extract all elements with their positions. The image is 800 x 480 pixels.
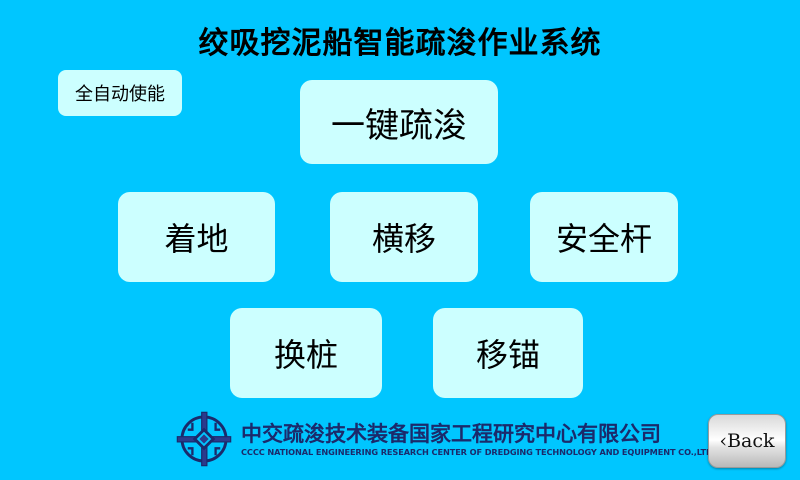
back-button[interactable]: ‹Back	[708, 414, 786, 468]
company-name-en: CCCC NATIONAL ENGINEERING RESEARCH CENTE…	[241, 448, 716, 458]
company-text-block: 中交疏浚技术装备国家工程研究中心有限公司 CCCC NATIONAL ENGIN…	[241, 420, 716, 458]
back-button-label: ‹Back	[719, 430, 774, 452]
page-title: 绞吸挖泥船智能疏浚作业系统	[0, 18, 800, 62]
landing-label: 着地	[164, 214, 228, 260]
safety-bar-button[interactable]: 安全杆	[530, 192, 678, 282]
company-footer: 中交疏浚技术装备国家工程研究中心有限公司 CCCC NATIONAL ENGIN…	[175, 408, 655, 470]
full-auto-enable-label: 全自动使能	[75, 80, 165, 106]
company-name-cn: 中交疏浚技术装备国家工程研究中心有限公司	[241, 422, 716, 446]
traverse-button[interactable]: 横移	[330, 192, 478, 282]
change-spud-label: 换桩	[274, 330, 338, 376]
cccc-logo-icon	[175, 410, 233, 468]
one-key-dredging-label: 一键疏浚	[331, 98, 467, 147]
move-anchor-label: 移锚	[476, 330, 540, 376]
one-key-dredging-button[interactable]: 一键疏浚	[300, 80, 498, 164]
change-spud-button[interactable]: 换桩	[230, 308, 382, 398]
traverse-label: 横移	[372, 214, 436, 260]
application-screen: 绞吸挖泥船智能疏浚作业系统 全自动使能 一键疏浚 着地 横移 安全杆 换桩 移锚	[0, 0, 800, 480]
landing-button[interactable]: 着地	[118, 192, 275, 282]
safety-bar-label: 安全杆	[556, 214, 652, 260]
move-anchor-button[interactable]: 移锚	[433, 308, 583, 398]
full-auto-enable-button[interactable]: 全自动使能	[58, 70, 182, 116]
